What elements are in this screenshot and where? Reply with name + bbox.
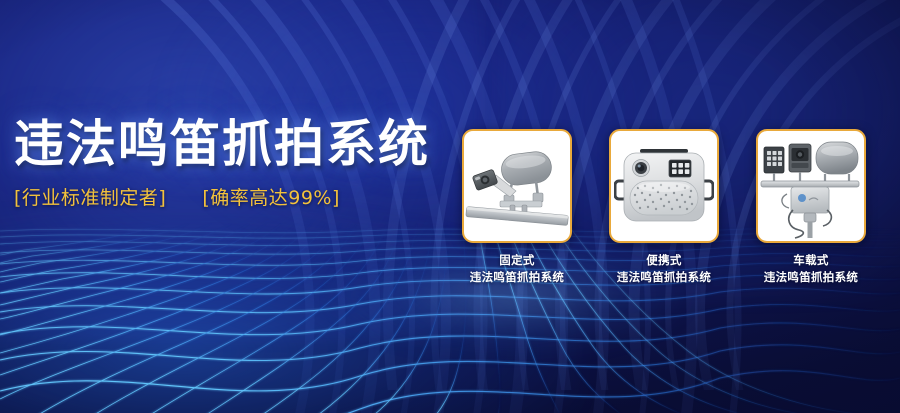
product-card-portable[interactable]: 便携式 违法鸣笛抓拍系统 [609, 129, 719, 285]
product-image-frame-portable [609, 129, 719, 243]
tagline-row: [行业标准制定者] [确率高达99%] [14, 183, 444, 210]
product-type-label-vehicle: 车载式 [793, 253, 828, 267]
product-system-label-vehicle: 违法鸣笛抓拍系统 [756, 269, 866, 286]
product-caption-portable: 便携式 违法鸣笛抓拍系统 [609, 252, 719, 285]
vehicle-mounted-horn-capture-device-icon [759, 132, 863, 240]
page-title: 违法鸣笛抓拍系统 [14, 118, 444, 171]
tagline-industry-standard: [行业标准制定者] [14, 183, 166, 210]
portable-horn-capture-device-icon [614, 143, 714, 229]
headline-block: 违法鸣笛抓拍系统 [行业标准制定者] [确率高达99%] [14, 118, 444, 210]
product-type-label-fixed: 固定式 [499, 253, 534, 267]
product-image-frame-vehicle [756, 129, 866, 243]
hero-banner: 违法鸣笛抓拍系统 [行业标准制定者] [确率高达99%] [0, 0, 900, 413]
product-card-fixed[interactable]: 固定式 违法鸣笛抓拍系统 [462, 129, 572, 285]
product-type-label-portable: 便携式 [646, 253, 681, 267]
product-system-label-fixed: 违法鸣笛抓拍系统 [462, 269, 572, 286]
tagline-accuracy: [确率高达99%] [202, 183, 340, 210]
product-card-list: 固定式 违法鸣笛抓拍系统 [462, 129, 866, 285]
product-caption-fixed: 固定式 违法鸣笛抓拍系统 [462, 252, 572, 285]
fixed-mount-horn-capture-device-icon [464, 131, 570, 241]
product-card-vehicle[interactable]: 车载式 违法鸣笛抓拍系统 [756, 129, 866, 285]
product-system-label-portable: 违法鸣笛抓拍系统 [609, 269, 719, 286]
product-image-frame-fixed [462, 129, 572, 243]
product-caption-vehicle: 车载式 违法鸣笛抓拍系统 [756, 252, 866, 285]
